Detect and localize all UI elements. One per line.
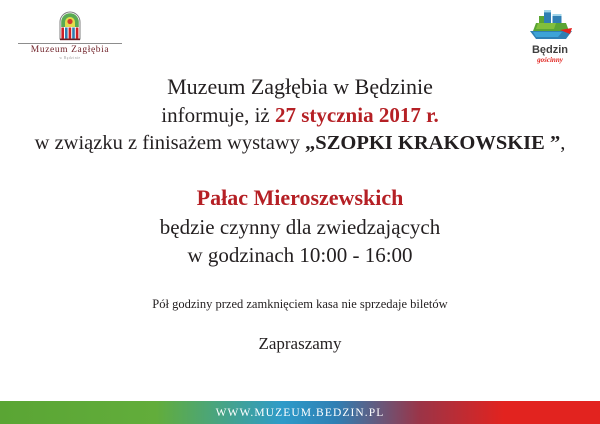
bedzin-castle-icon (514, 6, 586, 46)
museum-wordmark: Muzeum Zagłębia w Będzinie (14, 43, 126, 61)
line-open-for-visitors: będzie czynny dla zwiedzających (0, 213, 600, 241)
website-url[interactable]: WWW.MUZEUM.BEDZIN.PL (216, 407, 385, 419)
exhibition-title: SZOPKI KRAKOWSKIE (315, 132, 545, 154)
event-date: 27 stycznia 2017 r. (275, 103, 439, 127)
museum-name: Muzeum Zagłębia (14, 45, 126, 55)
museum-logo: Muzeum Zagłębia w Będzinie (14, 6, 126, 64)
poster-copy: Muzeum Zagłębia w Będzinie informuje, iż… (0, 72, 600, 355)
bedzin-slogan: gościnny (514, 56, 586, 64)
line-museum-name: Muzeum Zagłębia w Będzinie (0, 72, 600, 101)
quote-close: ” (545, 132, 560, 154)
announcement-poster: Muzeum Zagłębia w Będzinie Będzin gościn… (0, 0, 600, 424)
wordmark-rule (18, 43, 122, 44)
closing-invitation: Zapraszamy (0, 333, 600, 355)
quote-open: „ (305, 132, 315, 154)
bedzin-logo: Będzin gościnny (514, 6, 586, 64)
exhibition-suffix: , (560, 132, 565, 154)
line-opening-hours: w godzinach 10:00 - 16:00 (0, 241, 600, 269)
footer-bar: WWW.MUZEUM.BEDZIN.PL (0, 401, 600, 424)
exhibition-prefix: w związku z finisażem wystawy (35, 132, 305, 154)
venue-name: Pałac Mieroszewskich (0, 183, 600, 212)
informs-prefix: informuje, iż (161, 103, 275, 127)
venue-block: Pałac Mieroszewskich będzie czynny dla z… (0, 183, 600, 269)
line-exhibition: w związku z finisażem wystawy „SZOPKI KR… (0, 130, 600, 157)
bedzin-name: Będzin (514, 45, 586, 56)
museum-window-icon (14, 6, 126, 42)
museum-subtitle: w Będzinie (14, 56, 126, 61)
line-informs: informuje, iż 27 stycznia 2017 r. (0, 101, 600, 129)
ticket-office-note: Pół godziny przed zamknięciem kasa nie s… (0, 296, 600, 312)
